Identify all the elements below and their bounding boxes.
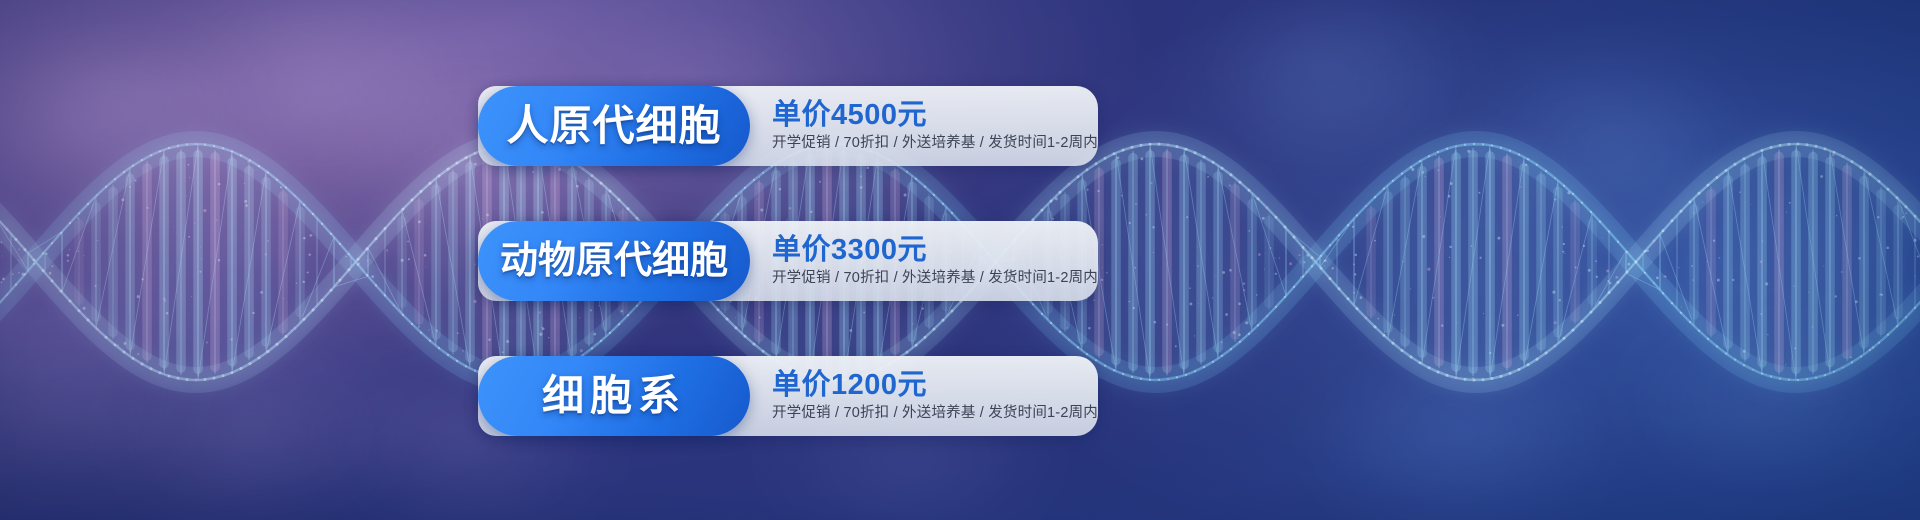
card-price: 单价3300元 [772, 235, 1098, 265]
card-price: 单价1200元 [772, 370, 1098, 400]
card-category-pill[interactable]: 动物原代细胞 [478, 221, 750, 301]
price-card-list: 人原代细胞 单价4500元 开学促销 / 70折扣 / 外送培养基 / 发货时间… [478, 86, 1098, 436]
card-info: 单价4500元 开学促销 / 70折扣 / 外送培养基 / 发货时间1-2周内 [750, 86, 1098, 166]
card-category-label: 细胞系 [542, 375, 686, 417]
card-category-label: 人原代细胞 [506, 105, 721, 147]
card-price: 单价4500元 [772, 100, 1098, 130]
card-category-pill[interactable]: 细胞系 [478, 356, 750, 436]
price-card[interactable]: 动物原代细胞 单价3300元 开学促销 / 70折扣 / 外送培养基 / 发货时… [478, 221, 1098, 301]
price-card[interactable]: 人原代细胞 单价4500元 开学促销 / 70折扣 / 外送培养基 / 发货时间… [478, 86, 1098, 166]
card-detail: 开学促销 / 70折扣 / 外送培养基 / 发货时间1-2周内 [772, 136, 1098, 152]
card-detail: 开学促销 / 70折扣 / 外送培养基 / 发货时间1-2周内 [772, 271, 1098, 287]
card-info: 单价1200元 开学促销 / 70折扣 / 外送培养基 / 发货时间1-2周内 [750, 356, 1098, 436]
card-category-label: 动物原代细胞 [500, 242, 728, 280]
card-detail: 开学促销 / 70折扣 / 外送培养基 / 发货时间1-2周内 [772, 406, 1098, 422]
price-card[interactable]: 细胞系 单价1200元 开学促销 / 70折扣 / 外送培养基 / 发货时间1-… [478, 356, 1098, 436]
promo-banner: 人原代细胞 单价4500元 开学促销 / 70折扣 / 外送培养基 / 发货时间… [0, 0, 1920, 520]
card-info: 单价3300元 开学促销 / 70折扣 / 外送培养基 / 发货时间1-2周内 [750, 221, 1098, 301]
card-category-pill[interactable]: 人原代细胞 [478, 86, 750, 166]
